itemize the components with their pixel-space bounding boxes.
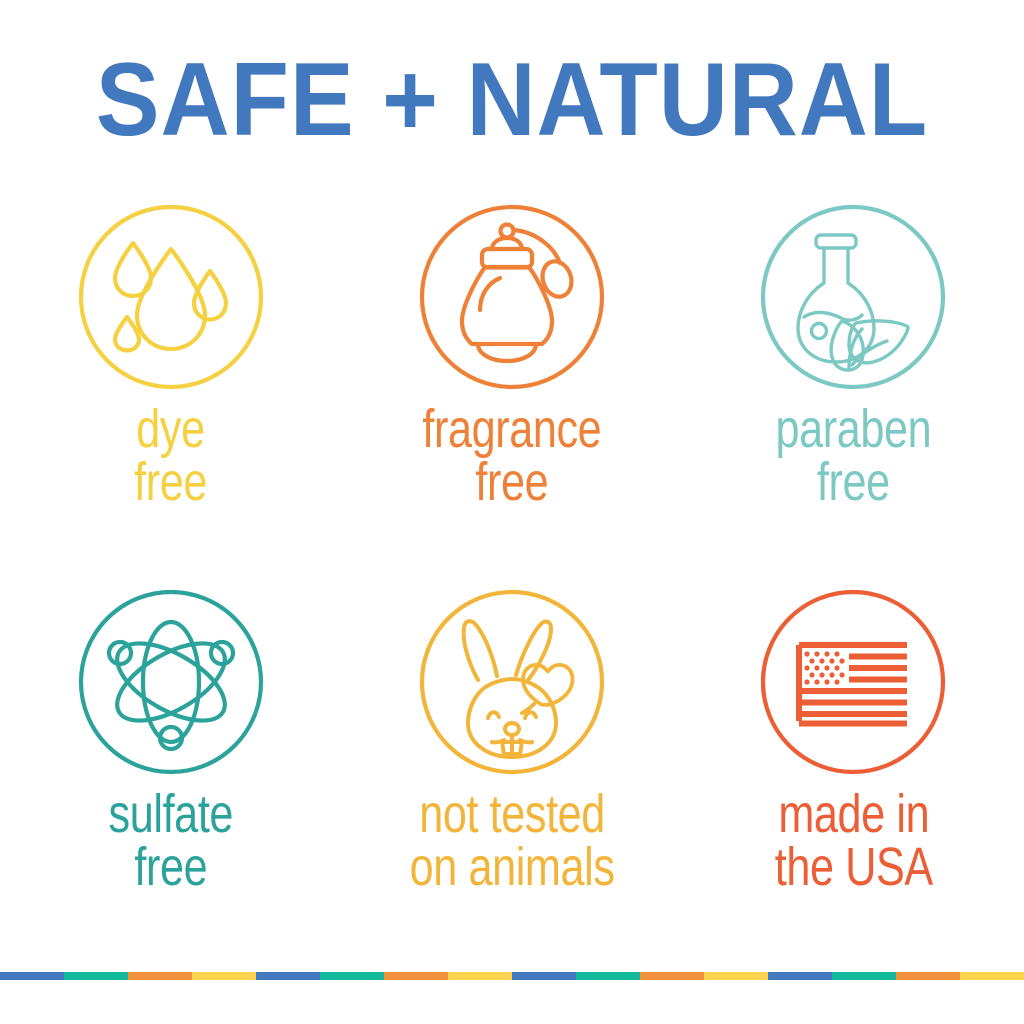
badge-grid: dye free <box>0 205 1024 975</box>
badge-label-line1: made in <box>778 784 929 844</box>
badge-label-line2: free <box>134 456 207 509</box>
badge-label-line2: free <box>423 456 602 509</box>
bunny-with-heart-icon <box>420 590 604 774</box>
stripe-segment <box>320 972 384 980</box>
stripe-segment <box>512 972 576 980</box>
stripe-segment <box>64 972 128 980</box>
stripe-segment <box>704 972 768 980</box>
badge-label-line1: fragrance <box>423 399 602 459</box>
badge-label: made in the USA <box>774 788 932 894</box>
atom-molecule-icon <box>79 590 263 774</box>
badge-fragrance-free[interactable]: fragrance free <box>352 205 672 590</box>
stripe-segment <box>896 972 960 980</box>
badge-label-line1: sulfate <box>108 784 232 844</box>
badge-label: fragrance free <box>423 403 602 509</box>
badge-made-in-the-usa[interactable]: made in the USA <box>693 590 1013 975</box>
badge-dye-free[interactable]: dye free <box>11 205 331 590</box>
badge-label-line2: free <box>108 841 232 894</box>
badge-label-line2: free <box>775 456 931 509</box>
badge-label: paraben free <box>775 403 931 509</box>
badge-label: sulfate free <box>108 788 232 894</box>
badge-label-line1: dye <box>136 399 204 459</box>
badge-label: not tested on animals <box>410 788 615 894</box>
badge-label-line1: not tested <box>419 784 605 844</box>
stripe-segment <box>448 972 512 980</box>
usa-flag-icon <box>761 590 945 774</box>
stripe-segment <box>256 972 320 980</box>
badge-label: dye free <box>134 403 207 509</box>
badge-label-line1: paraben <box>775 399 931 459</box>
footer-color-stripe <box>0 972 1024 980</box>
stripe-segment <box>384 972 448 980</box>
page-title: SAFE + NATURAL <box>41 48 983 152</box>
stripe-segment <box>640 972 704 980</box>
poster-canvas: SAFE + NATURAL dye free <box>0 0 1024 1024</box>
badge-paraben-free[interactable]: paraben free <box>693 205 1013 590</box>
badge-not-tested-on-animals[interactable]: not tested on animals <box>352 590 672 975</box>
badge-sulfate-free[interactable]: sulfate free <box>11 590 331 975</box>
water-droplets-icon <box>79 205 263 389</box>
stripe-segment <box>832 972 896 980</box>
badge-label-line2: the USA <box>774 841 932 894</box>
stripe-segment <box>960 972 1024 980</box>
badge-label-line2: on animals <box>410 841 615 894</box>
perfume-bottle-icon <box>420 205 604 389</box>
stripe-segment <box>768 972 832 980</box>
stripe-segment <box>576 972 640 980</box>
stripe-segment <box>192 972 256 980</box>
flask-with-leaves-icon <box>761 205 945 389</box>
stripe-segment <box>0 972 64 980</box>
stripe-segment <box>128 972 192 980</box>
